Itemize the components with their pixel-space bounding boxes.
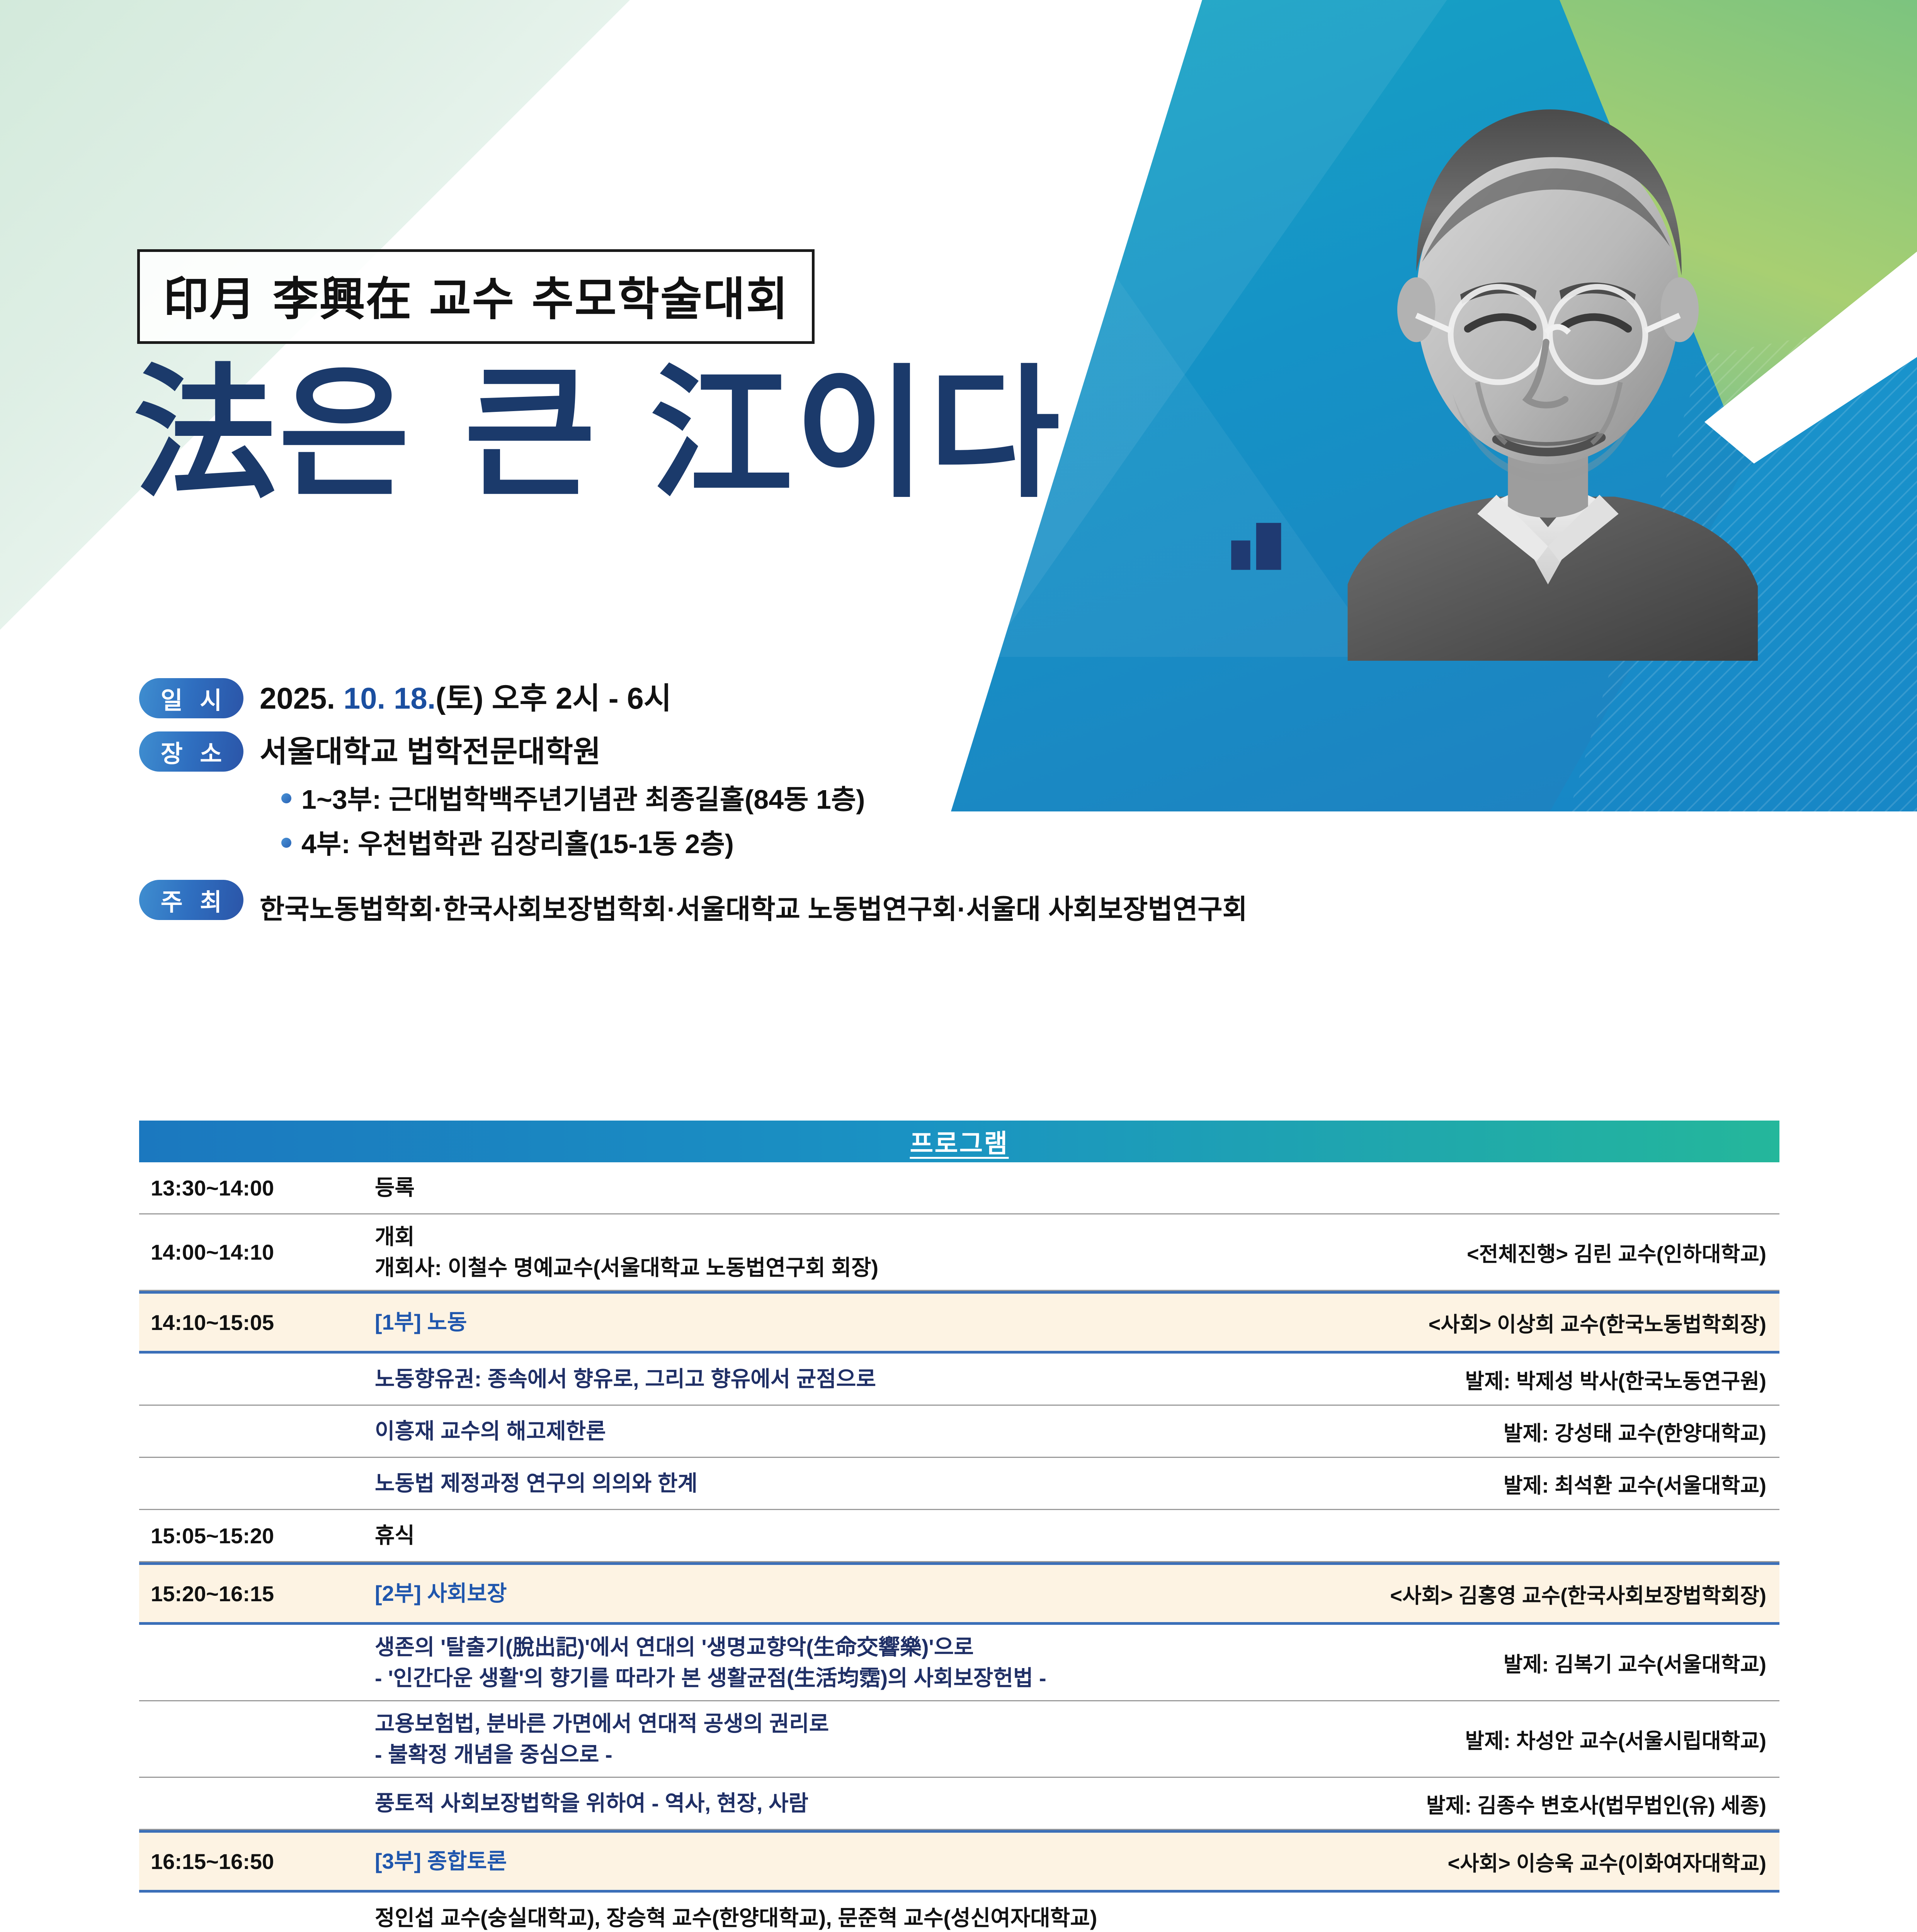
table-row: 이흥재 교수의 해고제한론 발제: 강성태 교수(한양대학교): [139, 1406, 1779, 1458]
program-table: 프로그램 13:30~14:00 등록 14:00~14:10 개회 개회사: …: [139, 1121, 1779, 1932]
bullet-dot-icon: [281, 793, 291, 803]
place-item-text: 4부: 우천법학관 김장리홀(15-1동 2층): [301, 822, 734, 861]
row-title: 등록: [375, 1172, 1766, 1203]
date-accent: 10. 18.: [344, 681, 436, 715]
table-row: 15:05~15:20 휴식: [139, 1510, 1779, 1562]
table-row: 고용보험법, 분바른 가면에서 연대적 공생의 권리로 - 불확정 개념을 중심…: [139, 1701, 1779, 1778]
row-title: 노동향유권: 종속에서 향유로, 그리고 향유에서 균점으로: [375, 1364, 1465, 1395]
host-line: 한국노동법학회·한국사회보장법학회·서울대학교 노동법연구회·서울대 사회보장법…: [260, 882, 1247, 927]
badge-place: 장 소: [139, 731, 243, 772]
list-item: 1~3부: 근대법학백주년기념관 최종길홀(84동 1층): [281, 778, 865, 817]
page-title: 法은 큰 江이다: [133, 359, 1062, 510]
table-row-part: 16:15~16:50 [3부] 종합토론 <사회> 이승욱 교수(이화여자대학…: [139, 1830, 1779, 1893]
row-right: <사회> 김홍영 교수(한국사회보장법학회장): [1390, 1578, 1779, 1609]
row-right: 발제: 박제성 박사(한국노동연구원): [1465, 1364, 1779, 1395]
info-row-date: 일 시 2025. 10. 18.(토) 오후 2시 - 6시: [139, 678, 1762, 718]
bullet-dot-icon: [281, 838, 291, 848]
row-time: 14:10~15:05: [139, 1310, 375, 1335]
kicker-text: 印月 李興在 교수 추모학술대회: [163, 272, 789, 326]
row-title: 풍토적 사회보장법학을 위하여 - 역사, 현장, 사람: [375, 1788, 1426, 1819]
row-right: <전체진행> 김린 교수(인하대학교): [1467, 1237, 1779, 1267]
info-row-place: 장 소 서울대학교 법학전문대학원 1~3부: 근대법학백주년기념관 최종길홀(…: [139, 731, 1762, 867]
row-right: 발제: 강성태 교수(한양대학교): [1504, 1416, 1779, 1447]
place-main: 서울대학교 법학전문대학원 1~3부: 근대법학백주년기념관 최종길홀(84동 …: [260, 731, 865, 867]
row-title: 고용보험법, 분바른 가면에서 연대적 공생의 권리로 - 불확정 개념을 중심…: [375, 1708, 1465, 1770]
row-title: 생존의 '탈출기(脫出記)'에서 연대의 '생명교향악(生命交響樂)'으로 - …: [375, 1632, 1504, 1693]
table-row: 14:00~14:10 개회 개회사: 이철수 명예교수(서울대학교 노동법연구…: [139, 1214, 1779, 1291]
row-time: 14:00~14:10: [139, 1240, 375, 1265]
row-time: 16:15~16:50: [139, 1849, 375, 1874]
row-title: 개회 개회사: 이철수 명예교수(서울대학교 노동법연구회 회장): [375, 1221, 1467, 1283]
row-title: 휴식: [375, 1520, 1766, 1551]
row-title-line1: 개회: [375, 1225, 415, 1249]
kicker-box: 印月 李興在 교수 추모학술대회: [137, 249, 815, 344]
table-row: 13:30~14:00 등록: [139, 1162, 1779, 1214]
row-right: 발제: 차성안 교수(서울시립대학교): [1465, 1724, 1779, 1754]
place-sublist: 1~3부: 근대법학백주년기념관 최종길홀(84동 1층) 4부: 우천법학관 …: [260, 778, 865, 861]
info-row-host: 주 최 한국노동법학회·한국사회보장법학회·서울대학교 노동법연구회·서울대 사…: [139, 880, 1762, 927]
row-title-line2: - '인간다운 생활'의 향기를 따라가 본 생활균점(生活均霑)의 사회보장헌…: [375, 1663, 1492, 1694]
row-title: [1부] 노동: [375, 1307, 1429, 1338]
row-title-line1: 고용보험법, 분바른 가면에서 연대적 공생의 권리로: [375, 1711, 829, 1736]
row-title: 이흥재 교수의 해고제한론: [375, 1416, 1504, 1447]
place-line: 서울대학교 법학전문대학원: [260, 734, 865, 769]
table-row: 풍토적 사회보장법학을 위하여 - 역사, 현장, 사람 발제: 김종수 변호사…: [139, 1778, 1779, 1830]
row-time: 13:30~14:00: [139, 1175, 375, 1201]
table-row: 생존의 '탈출기(脫出記)'에서 연대의 '생명교향악(生命交響樂)'으로 - …: [139, 1625, 1779, 1701]
row-right: <사회> 이상희 교수(한국노동법학회장): [1429, 1307, 1779, 1338]
table-row: 노동법 제정과정 연구의 의의와 한계 발제: 최석환 교수(서울대학교): [139, 1458, 1779, 1510]
row-right: 발제: 최석환 교수(서울대학교): [1504, 1468, 1779, 1499]
event-info-block: 일 시 2025. 10. 18.(토) 오후 2시 - 6시 장 소 서울대학…: [139, 678, 1762, 940]
table-row-part: 14:10~15:05 [1부] 노동 <사회> 이상희 교수(한국노동법학회장…: [139, 1291, 1779, 1354]
row-time: 15:05~15:20: [139, 1523, 375, 1548]
row-title-line1: 생존의 '탈출기(脫出記)'에서 연대의 '생명교향악(生命交響樂)'으로: [375, 1635, 974, 1659]
row-right: <사회> 이승욱 교수(이화여자대학교): [1448, 1846, 1779, 1877]
professor-portrait-photo: [1306, 50, 1789, 661]
table-row-part: 15:20~16:15 [2부] 사회보장 <사회> 김홍영 교수(한국사회보장…: [139, 1562, 1779, 1625]
date-line: 2025. 10. 18.(토) 오후 2시 - 6시: [260, 680, 672, 716]
geometric-facets: [951, 0, 1569, 657]
place-item-text: 1~3부: 근대법학백주년기념관 최종길홀(84동 1층): [301, 778, 865, 817]
row-title: [3부] 종합토론: [375, 1846, 1448, 1877]
table-row: 정인섭 교수(숭실대학교), 장승혁 교수(한양대학교), 문준혁 교수(성신여…: [139, 1893, 1779, 1932]
row-title-line2: 개회사: 이철수 명예교수(서울대학교 노동법연구회 회장): [375, 1252, 1455, 1283]
row-time: 15:20~16:15: [139, 1581, 375, 1606]
table-row: 노동향유권: 종속에서 향유로, 그리고 향유에서 균점으로 발제: 박제성 박…: [139, 1354, 1779, 1406]
blue-bracket-mark: [1225, 502, 1299, 576]
date-suffix: (토) 오후 2시 - 6시: [435, 681, 671, 715]
program-header-text: 프로그램: [910, 1123, 1009, 1160]
list-item: 4부: 우천법학관 김장리홀(15-1동 2층): [281, 822, 865, 861]
row-title: [2부] 사회보장: [375, 1578, 1390, 1609]
row-title-line2: - 불확정 개념을 중심으로 -: [375, 1739, 1454, 1770]
row-right: 발제: 김종수 변호사(법무법인(유) 세종): [1426, 1788, 1779, 1819]
row-title: 정인섭 교수(숭실대학교), 장승혁 교수(한양대학교), 문준혁 교수(성신여…: [375, 1903, 1766, 1932]
badge-host: 주 최: [139, 880, 243, 920]
row-title: 노동법 제정과정 연구의 의의와 한계: [375, 1468, 1504, 1499]
date-main: 2025. 10. 18.(토) 오후 2시 - 6시: [260, 678, 672, 716]
host-main: 한국노동법학회·한국사회보장법학회·서울대학교 노동법연구회·서울대 사회보장법…: [260, 880, 1247, 927]
row-right: 발제: 김복기 교수(서울대학교): [1504, 1647, 1779, 1678]
date-prefix: 2025.: [260, 681, 344, 715]
badge-date: 일 시: [139, 678, 243, 718]
program-header: 프로그램: [139, 1121, 1779, 1162]
